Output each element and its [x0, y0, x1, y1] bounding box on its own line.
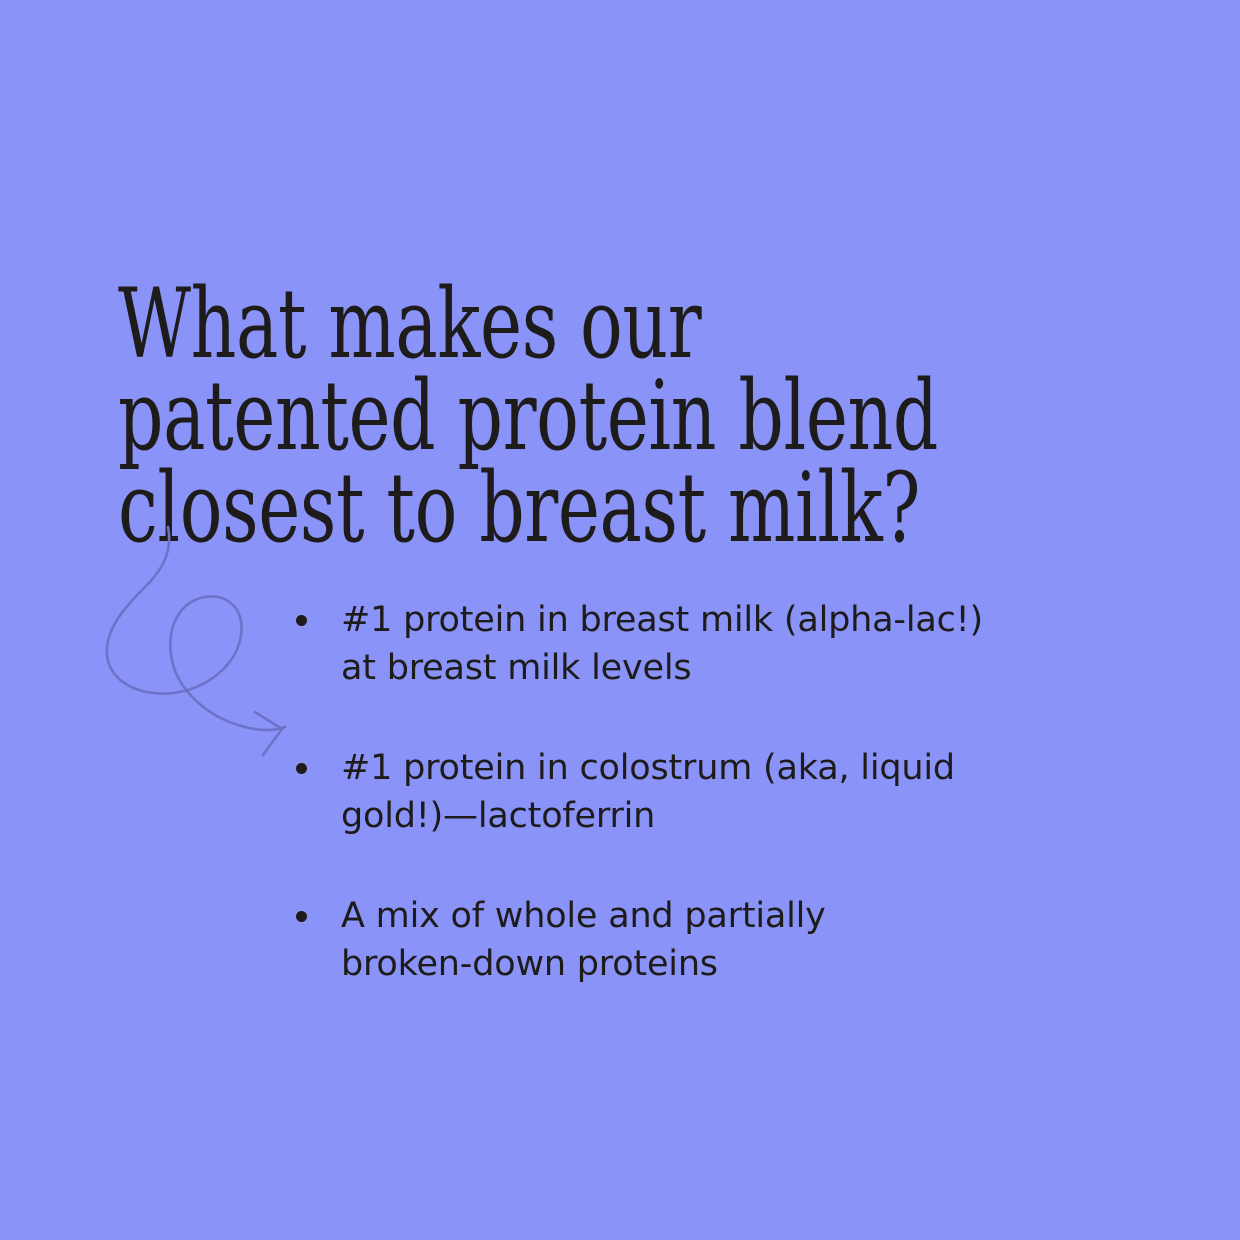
page-title: What makes our patented protein blend cl…: [118, 278, 828, 554]
slide-canvas: What makes our patented protein blend cl…: [0, 0, 1240, 1240]
list-item: A mix of whole and partially broken-down…: [296, 892, 1056, 988]
list-item-label: A mix of whole and partially broken-down…: [341, 892, 1056, 988]
page-title-line-2: patented protein blend: [118, 370, 828, 462]
list-item-label: #1 protein in breast milk (alpha-lac!) a…: [341, 596, 1056, 692]
bullet-dot-icon: [296, 763, 307, 774]
list-item: #1 protein in colostrum (aka, liquid gol…: [296, 744, 1056, 840]
list-item: #1 protein in breast milk (alpha-lac!) a…: [296, 596, 1056, 692]
curly-arrow-head: [255, 712, 282, 755]
bullet-dot-icon: [296, 615, 307, 626]
list-item-label: #1 protein in colostrum (aka, liquid gol…: [341, 744, 1056, 840]
bullet-dot-icon: [296, 911, 307, 922]
page-title-line-3: closest to breast milk?: [118, 462, 828, 554]
page-title-line-1: What makes our: [118, 278, 828, 370]
benefits-list: #1 protein in breast milk (alpha-lac!) a…: [296, 596, 1056, 988]
